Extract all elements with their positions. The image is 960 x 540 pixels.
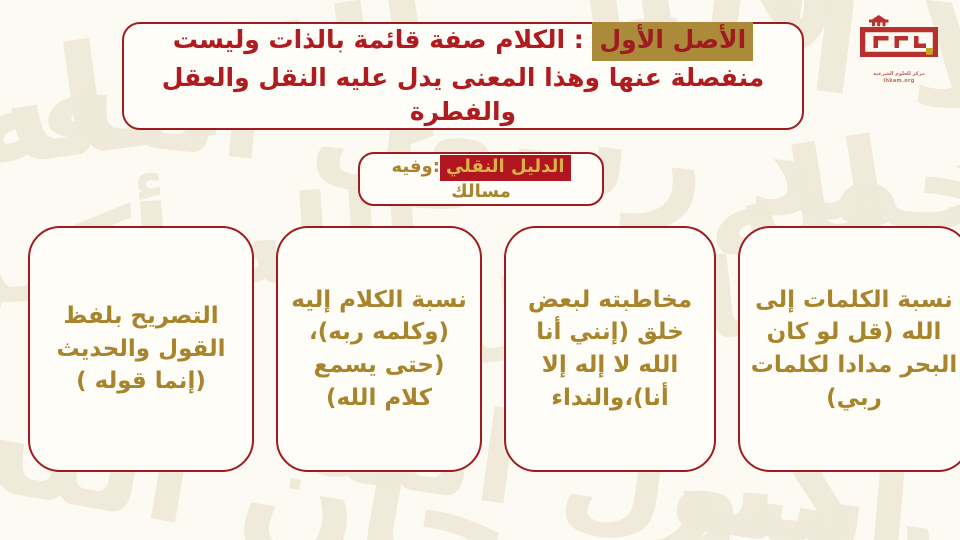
evidence-card-2-text: مخاطبته لبعض خلق (إنني أنا الله لا إله إ… [516, 284, 704, 415]
evidence-card-4: التصريح بلفظ القول والحديث (إنما قوله ) [28, 226, 254, 472]
evidence-card-1: نسبة الكلمات إلى الله (قل لو كان البحر م… [738, 226, 960, 472]
subheader-highlight-label: الدليل النقلي [440, 155, 571, 181]
evidence-card-3-text: نسبة الكلام إليه (وكلمه ربه)،(حتى يسمع ك… [288, 284, 470, 415]
slide-canvas: لا إله إلا الله محمد رسول الله الله أكبر… [0, 0, 960, 540]
logo-subtitle: مركز للعلوم الشرعية [873, 71, 925, 77]
header-highlight-label: الأصل الأول [592, 22, 753, 61]
header-statement-text: الأصل الأول : الكلام صفة قائمة بالذات ول… [140, 22, 786, 130]
header-statement-card: الأصل الأول : الكلام صفة قائمة بالذات ول… [122, 22, 804, 130]
subheader-card: الدليل النقلي:وفيه مسالك [358, 152, 604, 206]
brand-logo: مركز للعلوم الشرعية ihkam.org [848, 14, 950, 98]
evidence-card-2: مخاطبته لبعض خلق (إنني أنا الله لا إله إ… [504, 226, 716, 472]
subheader-text: الدليل النقلي:وفيه مسالك [372, 155, 590, 202]
logo-calligraphy-icon [854, 14, 944, 70]
evidence-card-4-text: التصريح بلفظ القول والحديث (إنما قوله ) [40, 300, 242, 398]
evidence-card-3: نسبة الكلام إليه (وكلمه ربه)،(حتى يسمع ك… [276, 226, 482, 472]
logo-url: ihkam.org [883, 78, 914, 84]
evidence-card-1-text: نسبة الكلمات إلى الله (قل لو كان البحر م… [750, 284, 958, 415]
